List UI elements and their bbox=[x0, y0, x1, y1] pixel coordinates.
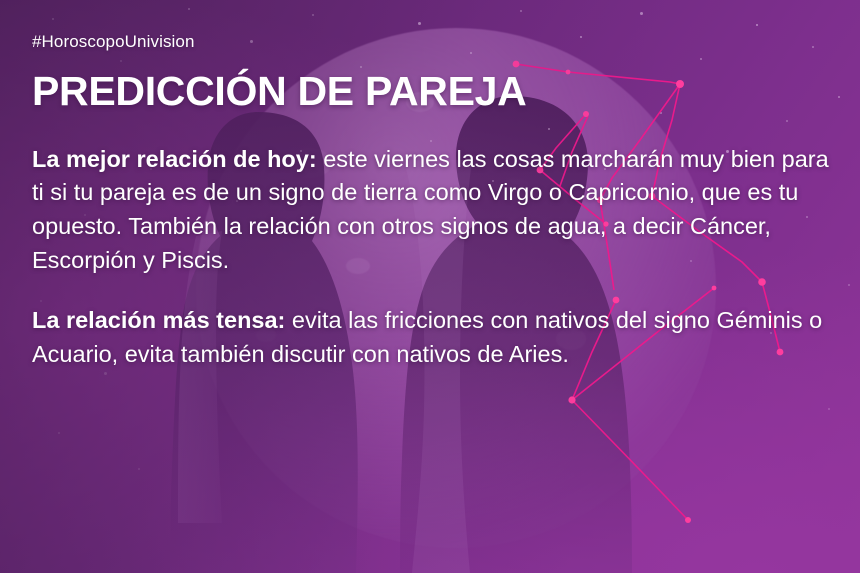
horoscope-poster: #HoroscopoUnivision PREDICCIÓN DE PAREJA… bbox=[0, 0, 860, 573]
paragraph-best-match: La mejor relación de hoy: este viernes l… bbox=[32, 143, 834, 278]
poster-content: #HoroscopoUnivision PREDICCIÓN DE PAREJA… bbox=[0, 0, 860, 573]
paragraph-tense-match: La relación más tensa: evita las friccio… bbox=[32, 304, 834, 372]
page-title: PREDICCIÓN DE PAREJA bbox=[32, 70, 834, 113]
prediction-body: La mejor relación de hoy: este viernes l… bbox=[32, 143, 834, 372]
hashtag: #HoroscopoUnivision bbox=[32, 32, 834, 52]
paragraph-tense-match-lead: La relación más tensa: bbox=[32, 307, 285, 333]
paragraph-best-match-lead: La mejor relación de hoy: bbox=[32, 146, 317, 172]
